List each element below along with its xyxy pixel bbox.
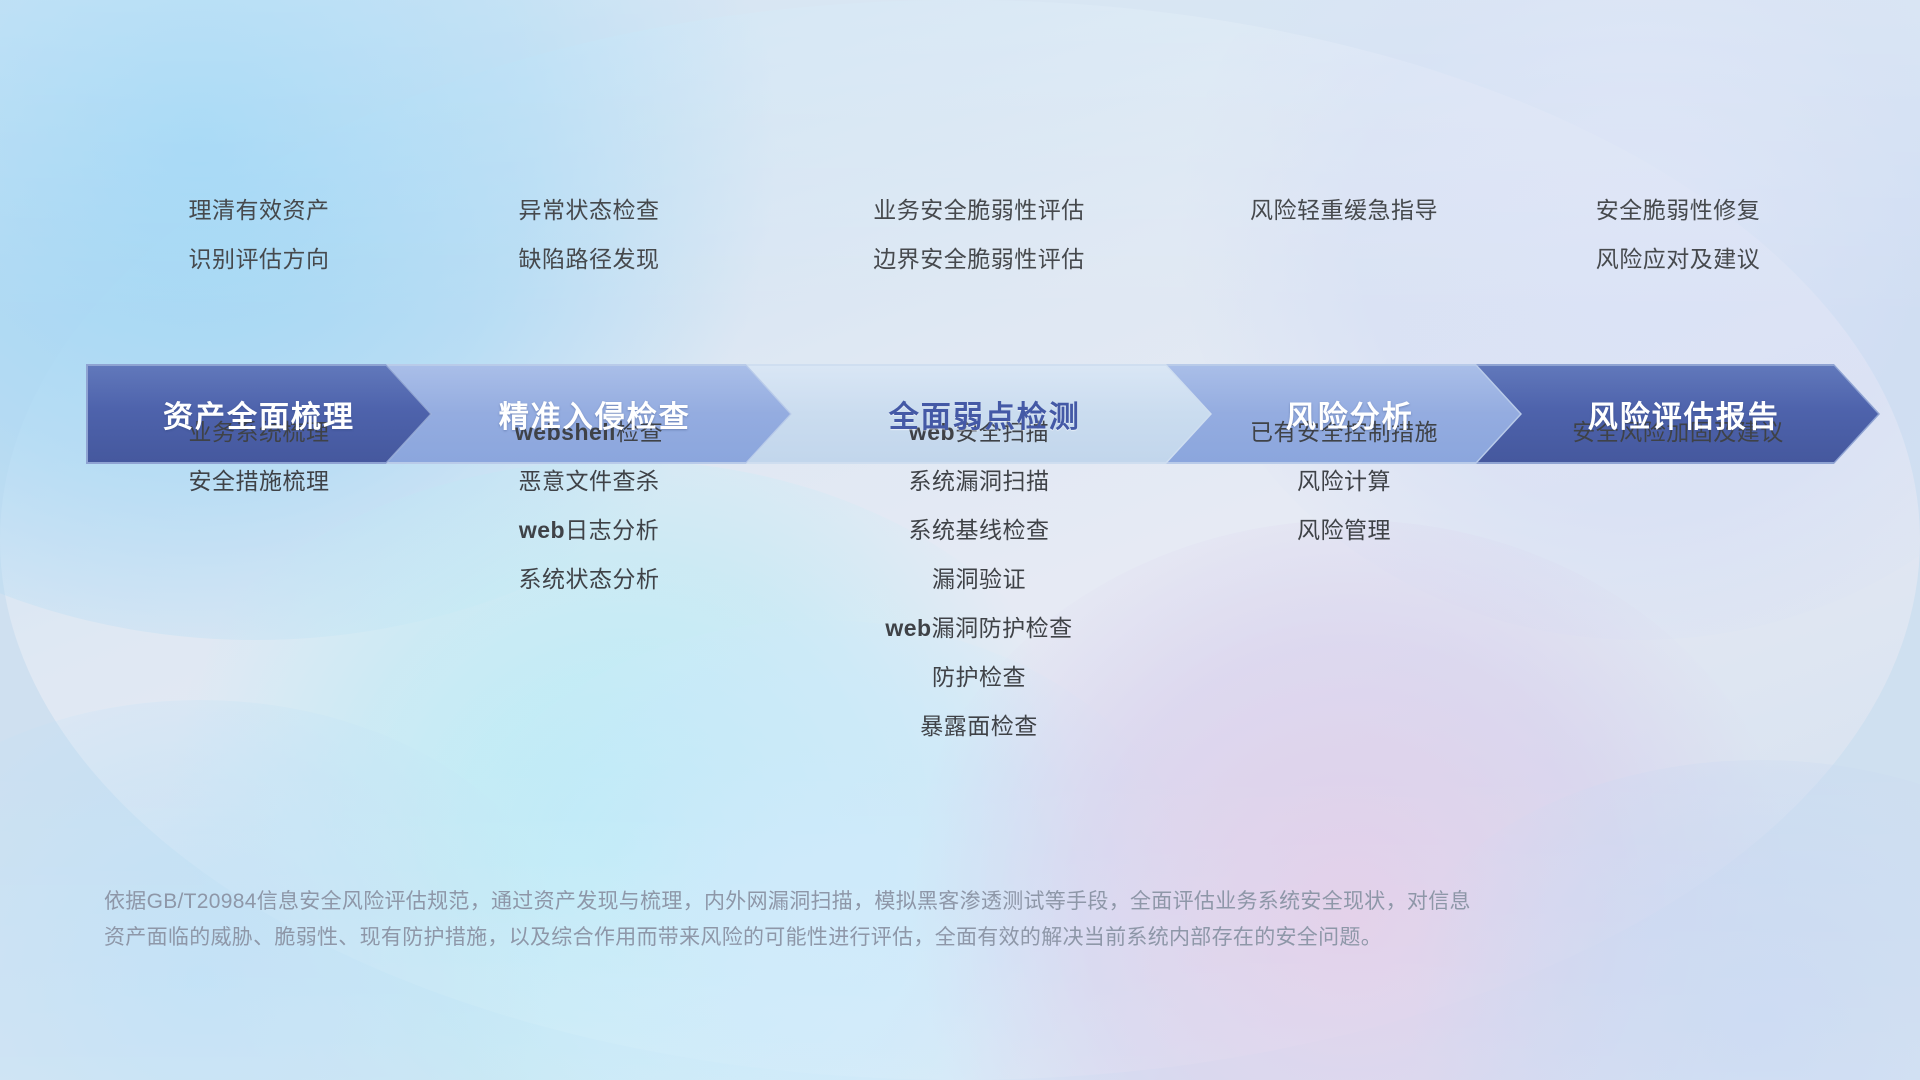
- stage-top-item: 业务安全脆弱性评估: [746, 186, 1212, 235]
- chevron-label-risk-analysis: 风险分析: [1286, 392, 1414, 436]
- stage-top-item: 识别评估方向: [86, 235, 432, 284]
- footer-description: 依据GB/T20984信息安全风险评估规范，通过资产发现与梳理，内外网漏洞扫描，…: [104, 884, 1824, 956]
- stage-top-item: 风险轻重缓急指导: [1166, 186, 1522, 235]
- stage-top-labels-asset-inventory: 理清有效资产识别评估方向: [86, 186, 432, 284]
- stage-top-item: 缺陷路径发现: [386, 235, 792, 284]
- stage-bottom-item: 系统状态分析: [386, 555, 792, 604]
- stage-top-labels-risk-analysis: 风险轻重缓急指导: [1166, 186, 1522, 235]
- chevron-label-weakness-detection: 全面弱点检测: [889, 392, 1081, 436]
- stage-bottom-item: 系统漏洞扫描: [746, 457, 1212, 506]
- footer-line-2: 资产面临的威胁、脆弱性、现有防护措施，以及综合作用而带来风险的可能性进行评估，全…: [104, 920, 1824, 956]
- stage-top-labels-weakness-detection: 业务安全脆弱性评估边界安全脆弱性评估: [746, 186, 1212, 284]
- stage-top-labels-row: 理清有效资产识别评估方向异常状态检查缺陷路径发现业务安全脆弱性评估边界安全脆弱性…: [0, 186, 1920, 278]
- stage-bottom-item-prefix: web: [519, 517, 565, 543]
- stage-bottom-item-prefix: web: [885, 615, 931, 641]
- footer-line-1: 依据GB/T20984信息安全风险评估规范，通过资产发现与梳理，内外网漏洞扫描，…: [104, 884, 1824, 920]
- stage-bottom-item: 防护检查: [746, 653, 1212, 702]
- stage-top-item: 边界安全脆弱性评估: [746, 235, 1212, 284]
- chevron-label-risk-report: 风险评估报告: [1588, 392, 1780, 436]
- stage-top-labels-risk-report: 安全脆弱性修复风险应对及建议: [1476, 186, 1880, 284]
- stage-bottom-labels-row: 业务系统梳理安全措施梳理webshell检查恶意文件查杀web日志分析系统状态分…: [0, 408, 1920, 708]
- stage-top-item: 异常状态检查: [386, 186, 792, 235]
- stage-bottom-item: 风险管理: [1166, 506, 1522, 555]
- stage-bottom-labels-weakness-detection: web安全扫描系统漏洞扫描系统基线检查漏洞验证web漏洞防护检查防护检查暴露面检…: [746, 408, 1212, 751]
- chevron-label-asset-inventory: 资产全面梳理: [163, 392, 355, 436]
- stage-top-item: 理清有效资产: [86, 186, 432, 235]
- stage-bottom-labels-intrusion-check: webshell检查恶意文件查杀web日志分析系统状态分析: [386, 408, 792, 604]
- stage-bottom-item: 恶意文件查杀: [386, 457, 792, 506]
- stage-bottom-item: 系统基线检查: [746, 506, 1212, 555]
- stage-bottom-item: 安全措施梳理: [86, 457, 432, 506]
- stage-bottom-item: web漏洞防护检查: [746, 604, 1212, 653]
- chevron-label-intrusion-check: 精准入侵检查: [499, 392, 691, 436]
- stage-top-labels-intrusion-check: 异常状态检查缺陷路径发现: [386, 186, 792, 284]
- stage-bottom-item: 风险计算: [1166, 457, 1522, 506]
- stage-top-item: 安全脆弱性修复: [1476, 186, 1880, 235]
- stage-bottom-item: web日志分析: [386, 506, 792, 555]
- stage-top-item: 风险应对及建议: [1476, 235, 1880, 284]
- stage-bottom-item: 漏洞验证: [746, 555, 1212, 604]
- stage-bottom-item: 暴露面检查: [746, 702, 1212, 751]
